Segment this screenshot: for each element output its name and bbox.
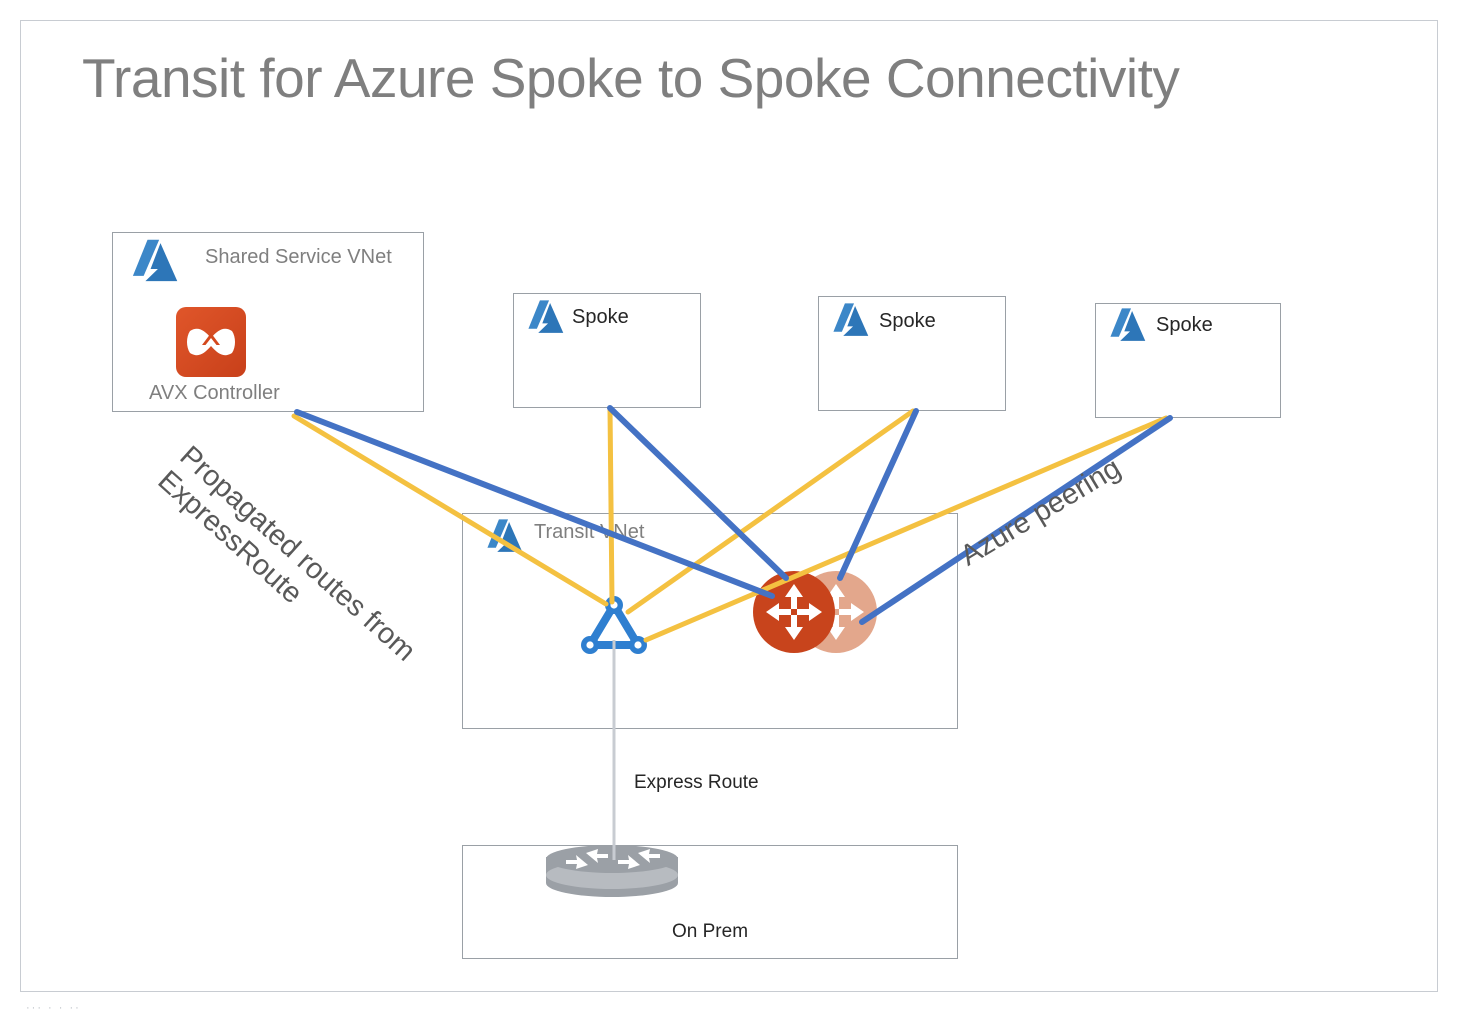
vnet-box-transit-vnet[interactable] [462, 513, 958, 729]
azure-logo-icon [1105, 307, 1149, 347]
azure-vnet-gateway-icon[interactable] [574, 583, 654, 668]
diagram-canvas: Transit for Azure Spoke to Spoke Connect… [0, 0, 1460, 1016]
bottom-edge-artifact: ··· · · ·· [26, 1002, 81, 1014]
vnet-box-label-spoke-2: Spoke [879, 310, 936, 333]
vnet-box-label-spoke-3: Spoke [1156, 314, 1213, 337]
avx-controller-label: AVX Controller [149, 382, 280, 405]
on-prem-router-icon[interactable] [542, 843, 682, 904]
express-route-label: Express Route [634, 772, 759, 794]
vnet-box-label-transit-vnet: Transit VNet [534, 521, 644, 544]
avx-controller-icon[interactable] [176, 307, 246, 382]
azure-logo-icon [523, 299, 567, 339]
azure-logo-icon [482, 518, 526, 558]
express-route-label-line-1: Express Route [634, 772, 759, 794]
vnet-box-label-shared-service-vnet: Shared Service VNet [205, 246, 392, 269]
azure-logo-icon [126, 238, 182, 288]
azure-logo-icon [828, 302, 872, 342]
vnet-box-label-spoke-1: Spoke [572, 306, 629, 329]
vnet-box-label-on-prem: On Prem [672, 921, 748, 943]
aviatrix-transit-gateway[interactable] [753, 571, 835, 658]
page-title: Transit for Azure Spoke to Spoke Connect… [82, 46, 1179, 110]
